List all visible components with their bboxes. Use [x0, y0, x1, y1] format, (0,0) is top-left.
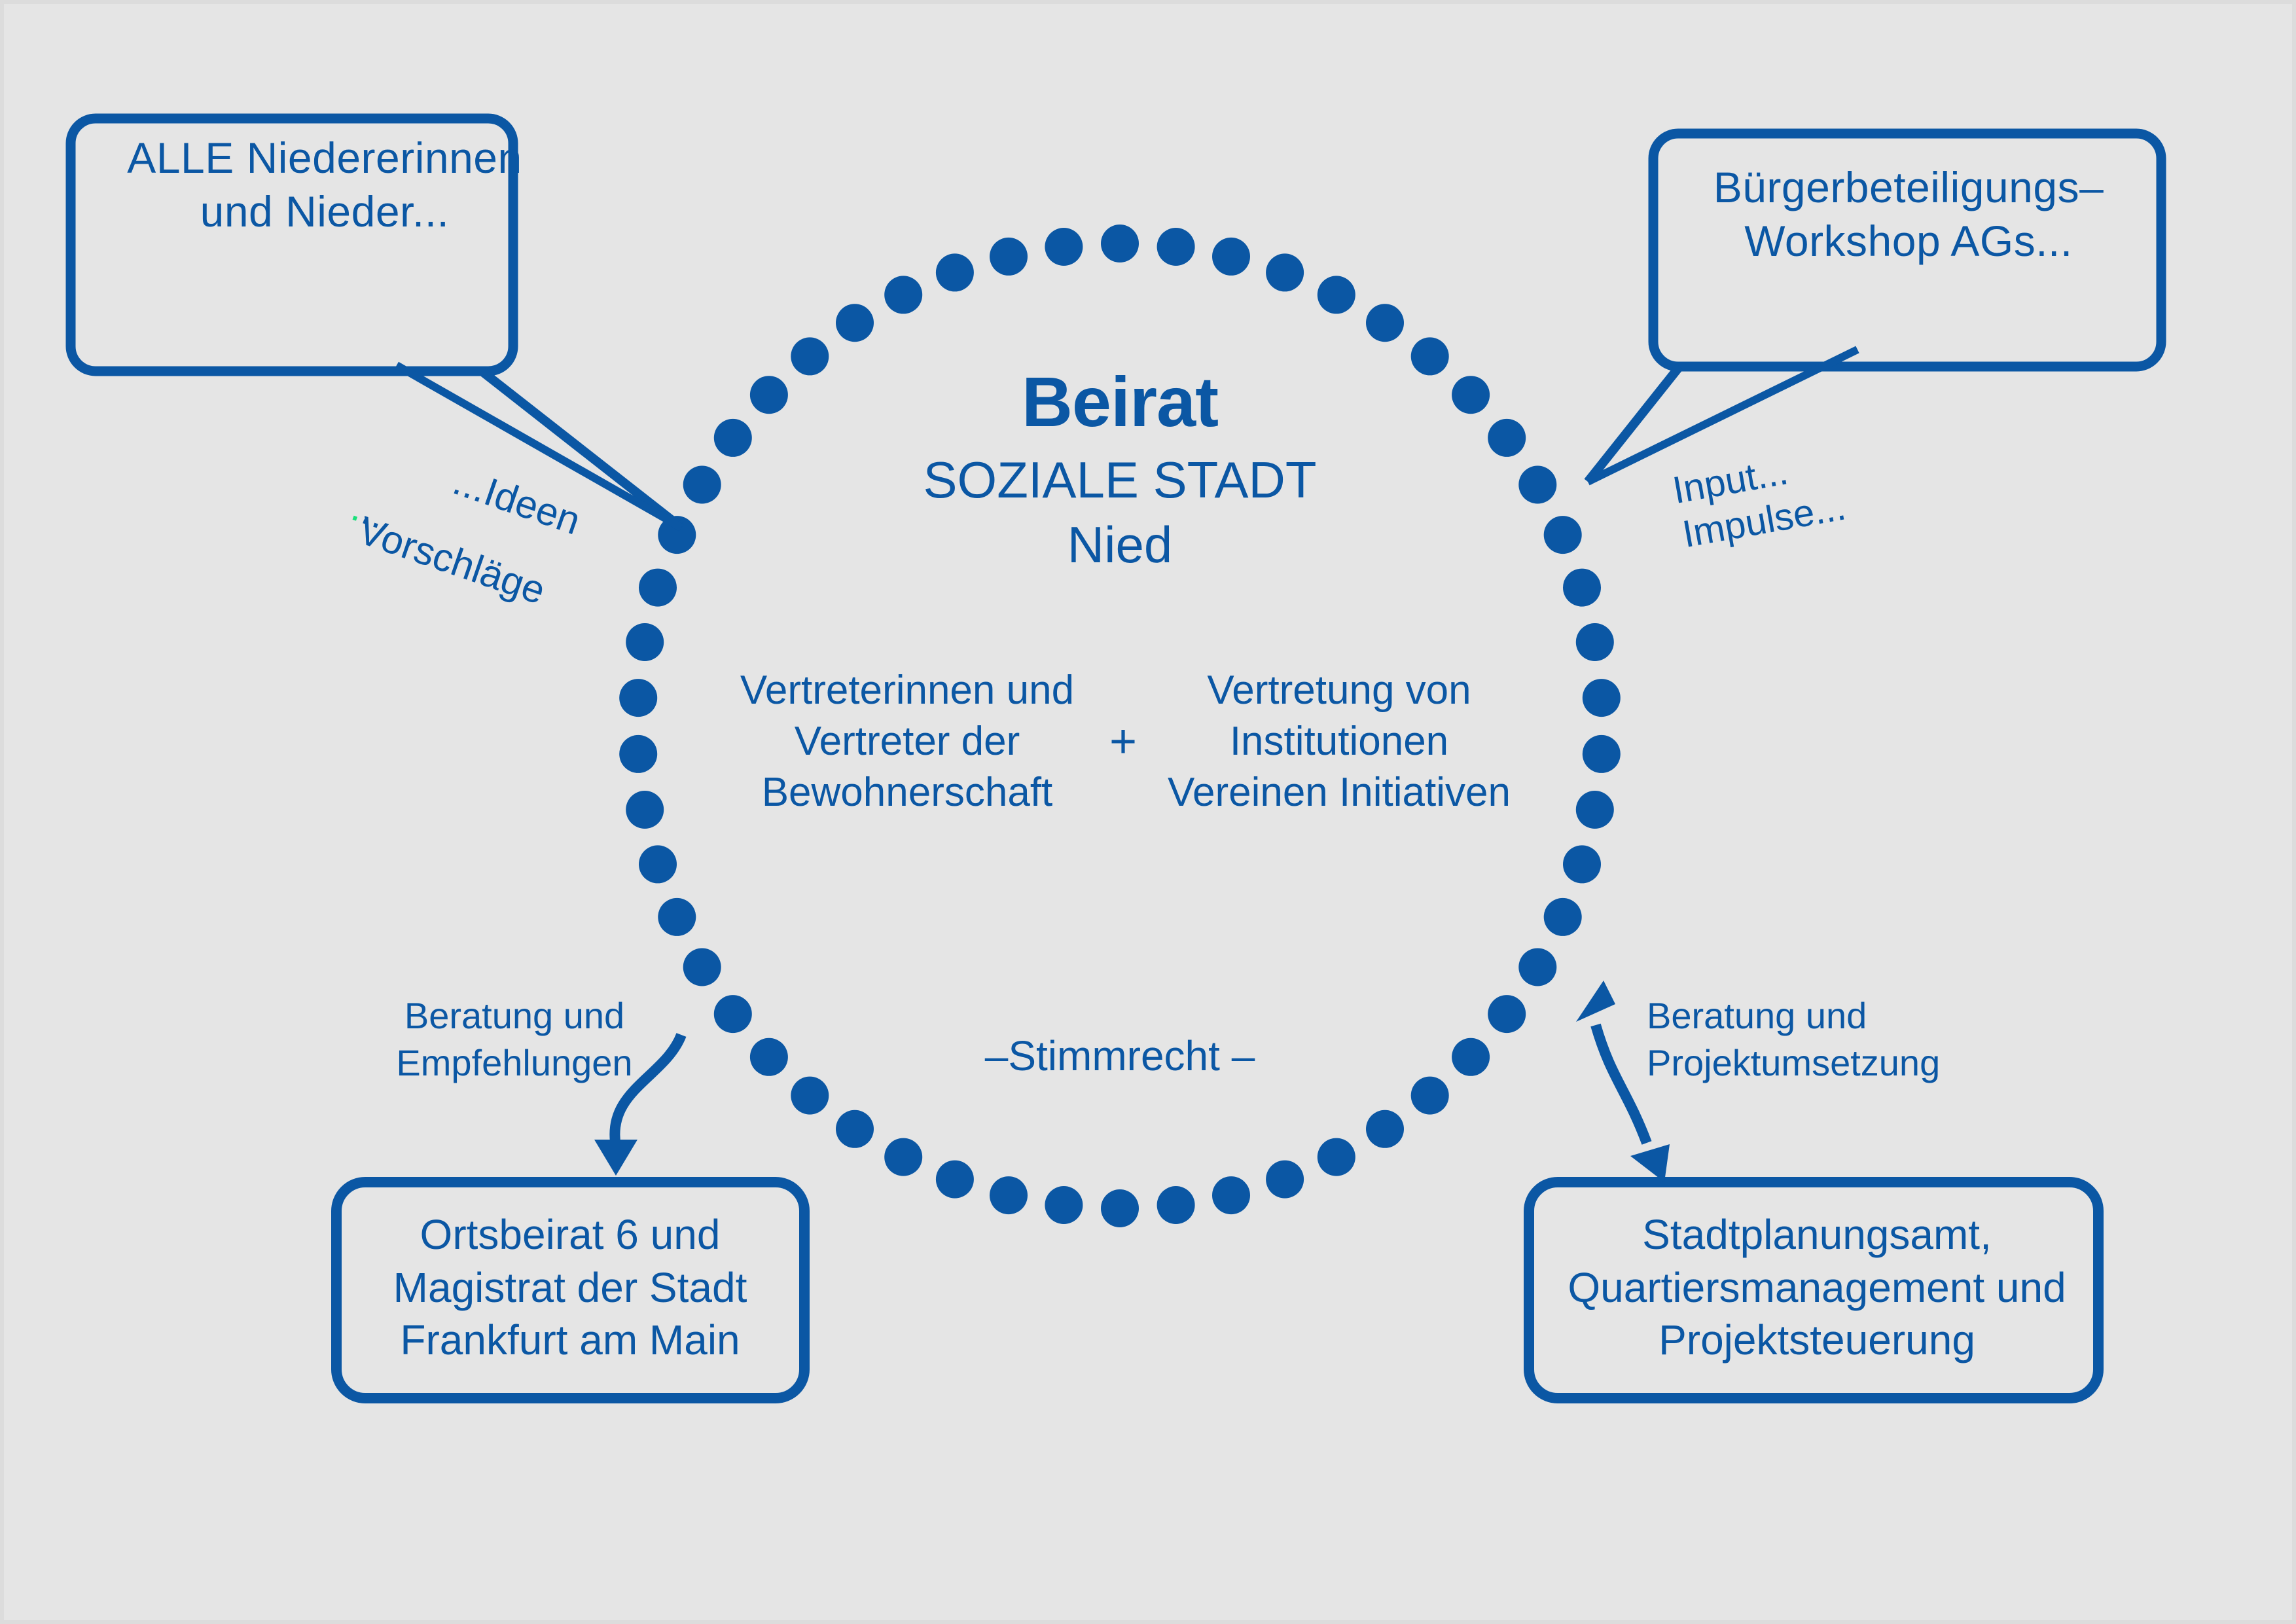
circle-dot	[683, 948, 721, 986]
center-composition: Vertreterinnen und Vertreter der Bewohne…	[691, 665, 1555, 818]
circle-dot	[1544, 898, 1582, 936]
circle-dot	[836, 304, 874, 342]
circle-dot	[1318, 1138, 1355, 1176]
circle-dot	[990, 238, 1028, 276]
circle-dot	[791, 1077, 829, 1115]
circle-dot	[1583, 735, 1621, 773]
circle-dot	[714, 419, 752, 457]
center-right-column: Vertretung von Institutionen Vereinen In…	[1166, 665, 1513, 818]
circle-dot	[1576, 791, 1614, 829]
box-bottom-left-label: Ortsbeirat 6 und Magistrat der Stadt Fra…	[344, 1208, 796, 1367]
plus-operator: +	[1081, 715, 1166, 768]
circle-dot	[1411, 1077, 1449, 1115]
circle-dot	[936, 253, 974, 291]
circle-dot	[1157, 228, 1195, 266]
circle-dot	[1045, 228, 1083, 266]
diagram-canvas: ALLE Niedererinnen und Nieder... Bürgerb…	[0, 0, 2296, 1624]
circle-dot	[683, 466, 721, 504]
circle-dot	[626, 791, 664, 829]
circle-dot	[1045, 1186, 1083, 1224]
bubble-top-left-label: ALLE Niedererinnen und Nieder...	[96, 132, 554, 239]
center-location: Nied	[816, 515, 1424, 575]
circle-dot	[626, 623, 664, 661]
circle-dot	[1101, 1189, 1139, 1227]
circle-dot	[1488, 995, 1526, 1033]
circle-dot	[750, 1038, 788, 1076]
circle-dot	[1583, 679, 1621, 717]
circle-dot	[1452, 1038, 1490, 1076]
center-subtitle: SOZIALE STADT	[816, 450, 1424, 510]
circle-dot	[750, 376, 788, 414]
circle-dot	[658, 898, 696, 936]
circle-dot	[714, 995, 752, 1033]
center-left-column: Vertreterinnen und Vertreter der Bewohne…	[734, 665, 1081, 818]
circle-dot	[1157, 1186, 1195, 1224]
circle-dot	[836, 1110, 874, 1148]
stimmrecht-note: –Stimmrecht –	[825, 1032, 1414, 1080]
circle-dot	[619, 735, 657, 773]
circle-dot	[1318, 276, 1355, 314]
circle-dot	[1544, 516, 1582, 554]
circle-dot	[639, 845, 677, 883]
circle-dot	[1563, 569, 1601, 607]
circle-dot	[1366, 304, 1404, 342]
circle-dot	[1563, 845, 1601, 883]
annotation-beratung-projektumsetzung: Beratung und Projektumsetzung	[1647, 992, 1954, 1086]
circle-dot	[1266, 253, 1304, 291]
circle-dot	[884, 1138, 922, 1176]
circle-dot	[619, 679, 657, 717]
circle-dot	[1576, 623, 1614, 661]
circle-dot	[1266, 1161, 1304, 1199]
circle-dot	[1212, 238, 1250, 276]
circle-dot	[1101, 225, 1139, 262]
circle-dot	[990, 1176, 1028, 1214]
circle-dot	[639, 569, 677, 607]
bubble-top-right-label: Bürgerbeteiligungs– Workshop AGs...	[1679, 161, 2138, 268]
page-title: Beirat	[816, 361, 1424, 442]
circle-dot	[1488, 419, 1526, 457]
box-bottom-right-label: Stadtplanungsamt, Quartiersmanagement un…	[1535, 1208, 2098, 1367]
circle-dot	[1452, 376, 1490, 414]
circle-dot	[936, 1161, 974, 1199]
circle-dot	[1518, 466, 1556, 504]
annotation-beratung-empfehlungen: Beratung und Empfehlungen	[377, 992, 652, 1086]
circle-dot	[1212, 1176, 1250, 1214]
circle-dot	[884, 276, 922, 314]
circle-dot	[1518, 948, 1556, 986]
circle-dot	[1366, 1110, 1404, 1148]
center-title-block: Beirat SOZIALE STADT Nied	[816, 361, 1424, 575]
